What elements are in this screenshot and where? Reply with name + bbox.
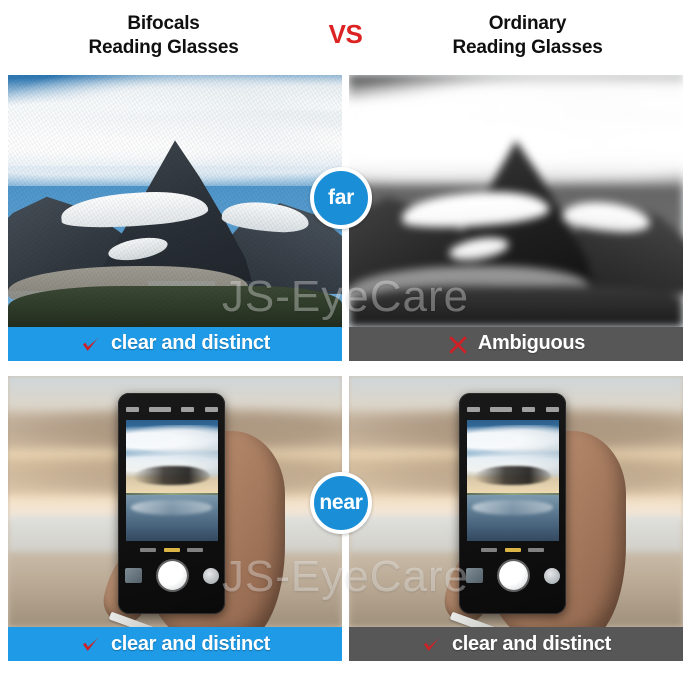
panel-bottom-left: clear and distinct [8, 376, 342, 662]
gallery-thumbnail [466, 568, 484, 583]
vs-label: VS [316, 19, 376, 54]
mountain-photo-blurred [349, 75, 683, 327]
mode-photo [505, 548, 521, 552]
beach-sunset-scene [349, 376, 683, 628]
status-icon-center [149, 407, 171, 411]
beach-sunset-scene [8, 376, 342, 628]
flash-icon [522, 407, 535, 411]
right-product-title-line1: Ordinary [380, 12, 676, 36]
mode-video [140, 548, 156, 552]
panel-top-right: Ambiguous [349, 75, 683, 361]
camera-mode-bar [125, 545, 219, 555]
flip-camera-icon [203, 568, 219, 584]
left-product-title-line2: Reading Glasses [16, 36, 312, 60]
camera-controls [125, 561, 219, 590]
check-icon [421, 633, 443, 655]
phone-status-bar [126, 405, 218, 414]
cross-icon [447, 333, 469, 355]
caption-label: clear and distinct [111, 332, 270, 355]
phone-photo-left [8, 376, 342, 628]
mode-square [528, 548, 544, 552]
camera-viewfinder [467, 420, 559, 542]
phone-photo-right [349, 376, 683, 628]
status-icon-left [467, 407, 480, 411]
left-product-title-line1: Bifocals [16, 12, 312, 36]
near-badge: near [310, 472, 372, 534]
right-product-title: Ordinary Reading Glasses [376, 12, 676, 61]
flash-icon [181, 407, 194, 411]
mountain-scene [8, 75, 342, 327]
status-icon-left [126, 407, 139, 411]
viewfinder-reflection [472, 500, 553, 515]
camera-mode-bar [466, 545, 560, 555]
comparison-grid: clear and distinct [8, 75, 683, 661]
mountain-photo-sharp [8, 75, 342, 327]
panel-bottom-right: clear and distinct [349, 376, 683, 662]
rock-texture [349, 75, 683, 327]
check-icon [80, 333, 102, 355]
viewfinder-dark-cloud [474, 466, 551, 485]
mountain-scene-blurred [349, 75, 683, 327]
caption-label: Ambiguous [478, 332, 585, 355]
shutter-button-icon [158, 561, 187, 590]
caption-bar-top-left: clear and distinct [8, 327, 342, 361]
check-icon [80, 633, 102, 655]
left-product-title: Bifocals Reading Glasses [16, 12, 316, 61]
shutter-button-icon [499, 561, 528, 590]
caption-bar-bottom-left: clear and distinct [8, 627, 342, 661]
phone-status-bar [467, 405, 559, 414]
comparison-header: Bifocals Reading Glasses VS Ordinary Rea… [0, 0, 691, 72]
rock-texture [8, 75, 342, 327]
caption-label: clear and distinct [452, 633, 611, 656]
flip-camera-icon [544, 568, 560, 584]
status-icon-center [490, 407, 512, 411]
panel-top-left: clear and distinct [8, 75, 342, 361]
mode-square [187, 548, 203, 552]
smartphone [118, 393, 225, 614]
camera-switch-icon [546, 407, 559, 411]
far-badge: far [310, 167, 372, 229]
mode-photo [164, 548, 180, 552]
camera-switch-icon [205, 407, 218, 411]
smartphone [459, 393, 566, 614]
caption-label: clear and distinct [111, 633, 270, 656]
mode-video [481, 548, 497, 552]
camera-controls [466, 561, 560, 590]
camera-viewfinder [126, 420, 218, 542]
viewfinder-reflection [131, 500, 212, 515]
viewfinder-dark-cloud [133, 466, 210, 485]
caption-bar-top-right: Ambiguous [349, 327, 683, 361]
caption-bar-bottom-right: clear and distinct [349, 627, 683, 661]
right-product-title-line2: Reading Glasses [380, 36, 676, 60]
gallery-thumbnail [125, 568, 143, 583]
